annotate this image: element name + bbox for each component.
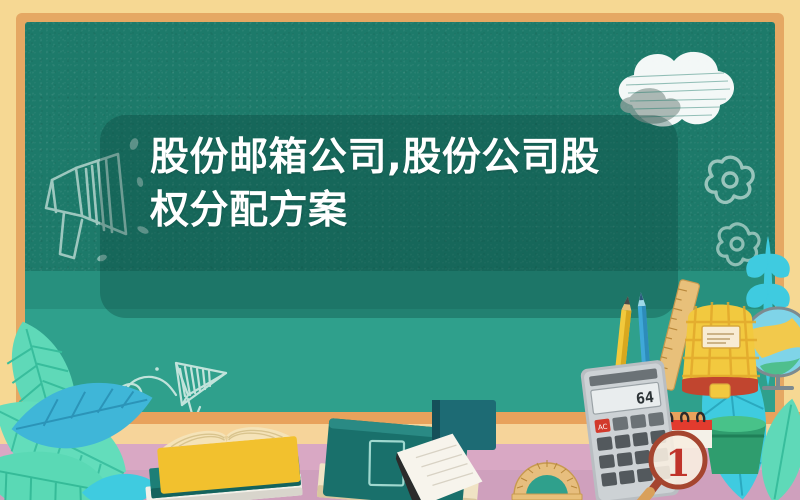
open-book-icon [393,430,486,500]
calculator-display: 64 [635,388,655,408]
backpack-icon [672,294,768,400]
headline-line-1: 股份邮箱公司,股份公司股 [150,135,600,180]
magnifier-number: 1 [665,443,690,485]
book-icon [155,418,300,494]
page-title: 股份邮箱公司,股份公司股 权分配方案 [150,131,655,237]
calculator-ac-key: AC [597,423,608,432]
protractor-icon [512,436,582,500]
magnifier-icon: 1 [638,430,716,500]
headline-line-2: 权分配方案 [150,188,348,233]
banner-illustration: 股份邮箱公司,股份公司股 权分配方案 [0,0,800,500]
